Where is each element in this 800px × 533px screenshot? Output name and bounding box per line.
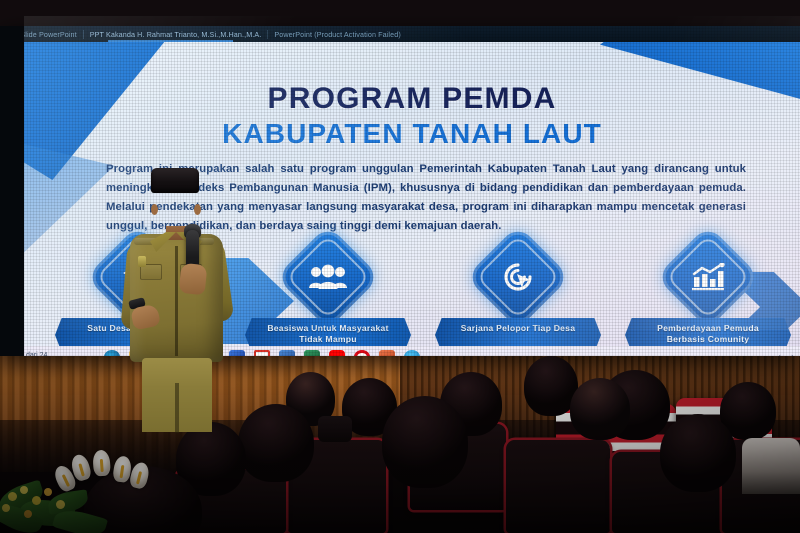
audience-white-shirt: [742, 438, 800, 494]
slide-title-line-1: PROGRAM PEMDA: [24, 82, 800, 116]
target-cursor-icon: [466, 225, 571, 330]
screen-left-bezel: [0, 26, 24, 356]
program-card-3: Sarjana Pelopor Tiap Desa: [434, 240, 602, 352]
presenter-shirt-placket: [175, 246, 178, 356]
opera-icon[interactable]: [354, 350, 370, 356]
audience-head-12: [570, 378, 630, 440]
chair-dark-2: [506, 440, 610, 533]
slide-nav-controls[interactable]: ‹ ›: [778, 351, 794, 356]
gmail-icon[interactable]: [254, 350, 270, 356]
telegram-icon[interactable]: [404, 350, 420, 356]
calla-lily-2: [92, 449, 111, 476]
slide-prev-button[interactable]: ‹: [778, 351, 781, 356]
program-card-2: Beasiswa Untuk Masyarakat Tidak Mampu: [244, 240, 412, 352]
presenter-trouser-seam: [175, 383, 179, 433]
tab-activation-failed[interactable]: PowerPoint (Product Activation Failed): [267, 30, 406, 39]
audience-head-8: [382, 396, 468, 488]
slide-next-button[interactable]: ›: [791, 351, 794, 356]
slide-count-status: dari 24: [26, 352, 47, 356]
presenter-name-badge: [138, 256, 146, 267]
excel-icon[interactable]: [304, 350, 320, 356]
bar-chart-growth-icon: [656, 225, 761, 330]
tab-ppt-kakanda[interactable]: PPT Kakanda H. Rahmat Trianto, M.Si.,M.H…: [83, 30, 268, 39]
flower-arrangement: [0, 452, 144, 533]
youtube-icon[interactable]: [329, 350, 345, 356]
audience-head-10: [660, 414, 736, 492]
slide-title-line-2: KABUPATEN TANAH LAUT: [24, 118, 800, 150]
presenter-figure: [118, 168, 242, 430]
peci-cap-icon: [151, 168, 199, 193]
powerpoint-icon[interactable]: [379, 350, 395, 356]
presenter-hand-holding-mic: [179, 263, 208, 296]
word-icon[interactable]: [279, 350, 295, 356]
program-card-4: Pemberdayaan Pemuda Berbasis Comunity: [624, 240, 792, 352]
people-group-icon: [276, 225, 381, 330]
audience-neck-1: [318, 416, 352, 442]
screenshot-root: aan Slide PowerPoint PPT Kakanda H. Rahm…: [0, 0, 800, 533]
audience-head-7: [238, 404, 314, 482]
